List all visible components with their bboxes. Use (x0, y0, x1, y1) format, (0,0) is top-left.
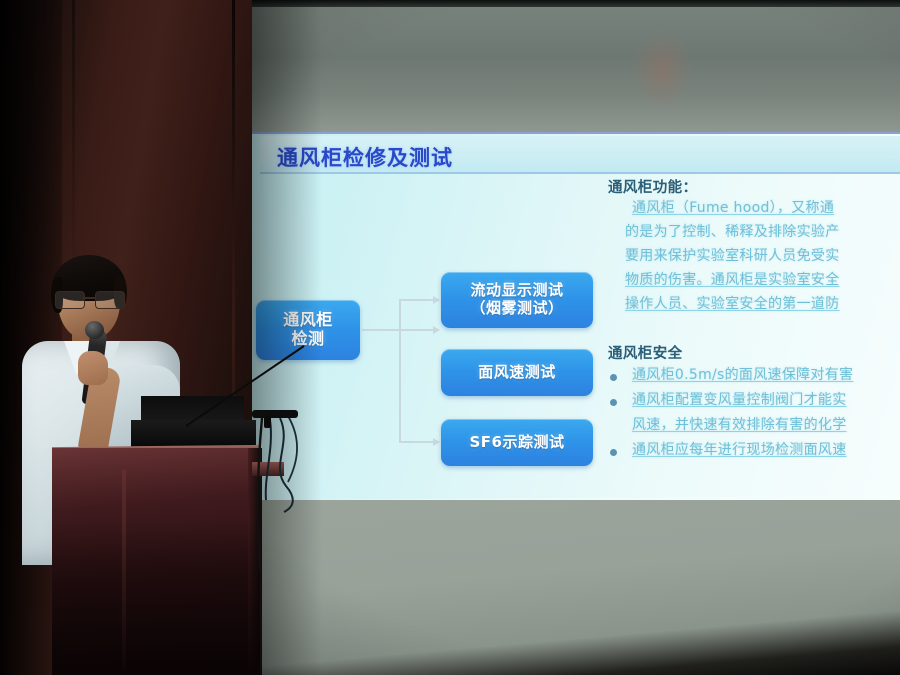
screen-top-frame (252, 0, 900, 7)
presentation-photo-scene: 通风柜检修及测试 通风柜 检测 流动显示测试 （烟雾测试） (0, 0, 900, 675)
safety-bullet-3-text: 通风柜应每年进行现场检测面风速 (632, 443, 847, 457)
safety-bullet-2-wrap-text: 风速，并快速有效排除有害的化学 (632, 418, 847, 432)
slide-text-column: 通风柜功能： 通风柜（Fume hood），又称通 的是为了控制、稀释及排除实验… (604, 176, 900, 500)
flow-node-branch-3-line1: SF6示踪测试 (470, 434, 565, 452)
pointer-line (186, 346, 304, 426)
presenter-hand (78, 351, 108, 385)
flow-node-branch-1: 流动显示测试 （烟雾测试） (441, 272, 593, 328)
flow-node-branch-1-line2: （烟雾测试） (470, 300, 563, 318)
connector-line-middle (362, 329, 439, 331)
slide-top-border (252, 132, 900, 134)
connector-line-vertical-up (399, 300, 401, 331)
safety-heading: 通风柜安全 (608, 342, 683, 363)
safety-bullet-2-text: 通风柜配置变风量控制阀门才能实 (632, 393, 847, 407)
slide-title-bar: 通风柜检修及测试 (260, 136, 900, 174)
function-line-5: 操作人员、实验室安全的第一道防 (625, 297, 840, 311)
flow-node-branch-1-line1: 流动显示测试 (470, 282, 563, 300)
glasses-lens-left (55, 291, 85, 309)
arrow-head-top (433, 296, 440, 304)
function-line-4: 物质的伤害。通风柜是实验室安全 (625, 273, 840, 287)
podium-shadow (52, 520, 260, 675)
glasses-bridge (83, 297, 96, 299)
arrow-head-middle (433, 326, 440, 334)
flow-node-branch-2-line1: 面风速测试 (478, 364, 556, 382)
bullet-dot-icon (610, 449, 617, 456)
safety-bullet-1-text: 通风柜0.5m/s的面风速保障对有害 (632, 368, 853, 382)
slide-title: 通风柜检修及测试 (277, 142, 453, 172)
function-line-2: 的是为了控制、稀释及排除实验产 (625, 225, 840, 239)
flow-node-root-line1: 通风柜 (283, 311, 333, 330)
screen-warm-reflection (632, 30, 692, 110)
flow-node-branch-2: 面风速测试 (441, 349, 593, 396)
bullet-dot-icon (610, 399, 617, 406)
screen-upper-dark-area (252, 7, 900, 132)
function-line-3: 要用来保护实验室科研人员免受实 (625, 249, 840, 263)
pointer-wire (180, 340, 310, 470)
function-heading: 通风柜功能： (608, 176, 697, 197)
bullet-dot-icon (610, 374, 617, 381)
glasses-lens-right (95, 291, 125, 309)
flow-node-branch-3: SF6示踪测试 (441, 419, 593, 466)
function-line-1: 通风柜（Fume hood），又称通 (632, 201, 834, 215)
arrow-head-bottom (433, 438, 440, 446)
connector-line-vertical-down (399, 329, 401, 442)
glasses-icon (54, 291, 126, 308)
